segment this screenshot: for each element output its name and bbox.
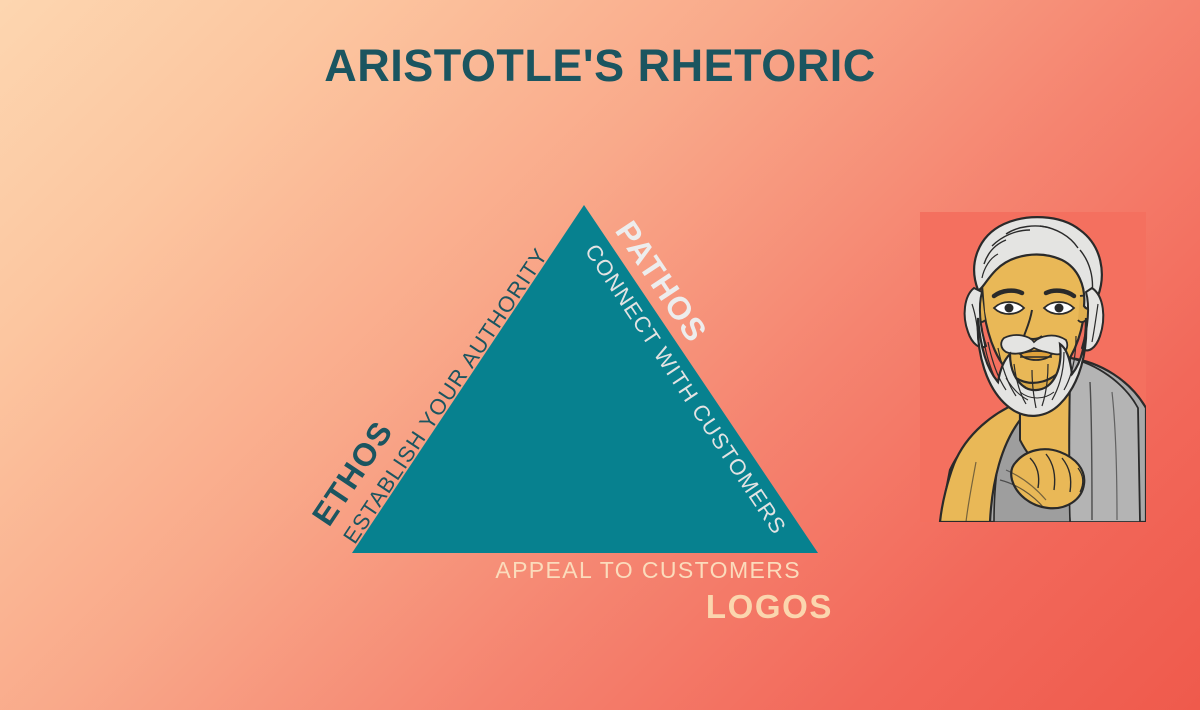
aristotle-portrait-illustration <box>920 212 1146 522</box>
logos-heading: LOGOS <box>0 588 838 626</box>
eye-left <box>994 302 1024 314</box>
page-title: ARISTOTLE'S RHETORIC <box>0 40 1200 92</box>
pathos-subtext: CONNECT WITH CUSTOMERS <box>581 240 791 538</box>
ethos-subtext: ESTABLISH YOUR AUTHORITY <box>339 244 552 548</box>
eye-right <box>1044 302 1074 314</box>
infographic-canvas: ARISTOTLE'S RHETORIC ETHOS ESTABLISH YOU… <box>0 0 1200 710</box>
lips-shape <box>1020 351 1052 360</box>
logos-subtext: APPEAL TO CUSTOMERS <box>0 557 838 584</box>
triangle-side-logos: APPEAL TO CUSTOMERS LOGOS <box>0 557 838 626</box>
